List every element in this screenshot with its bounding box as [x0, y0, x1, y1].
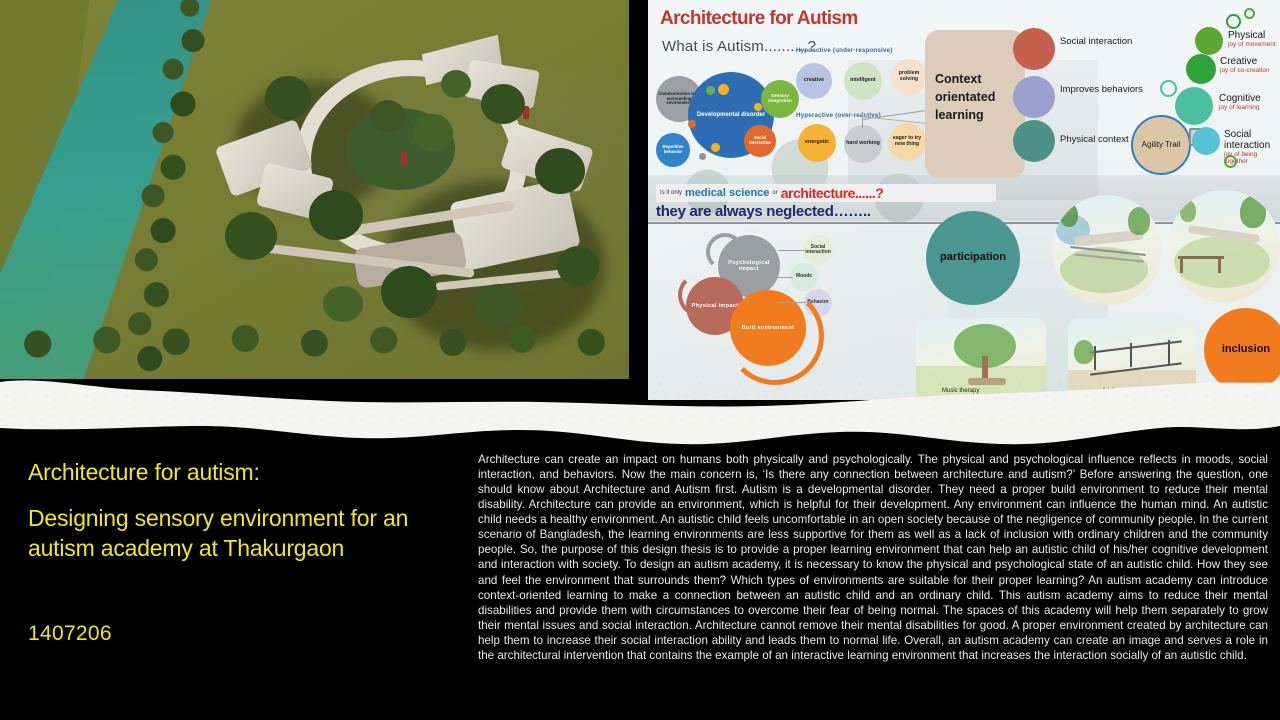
dot-orange [688, 120, 696, 128]
context-dot-physical-context [1013, 120, 1055, 162]
joy-dot-creative [1186, 54, 1216, 84]
joy-name-social-interaction: Social interaction [1224, 129, 1280, 151]
bubble-social-interaction-small-label: Social interaction [744, 136, 776, 145]
flow-outcome-moods-label: Moods [796, 274, 812, 280]
poster-board: Architecture for Autism What is Autism..… [648, 0, 1280, 400]
bubble-energetic: energetic [798, 124, 836, 162]
headline-line-1: Architecture for autism: [28, 458, 478, 487]
context-label-physical-context: Physical context [1060, 134, 1129, 145]
keyword-inclusion-label: inclusion [1220, 344, 1272, 356]
flow-line-1 [778, 250, 806, 251]
joy-dot-cognitive [1175, 87, 1213, 125]
abstract-paragraph: Architecture can create an impact on hum… [478, 452, 1268, 663]
ribbon-medical-vs-architecture: Is it only medical science or architectu… [656, 184, 996, 202]
bubble-energetic-label: energetic [803, 140, 831, 146]
dot-yellow-3 [754, 103, 762, 111]
ring-accent-1 [1226, 14, 1241, 29]
bubble-developmental-disorder-label: Developmental disorder [695, 112, 767, 118]
bubble-hard-working-label: hard working [844, 141, 882, 147]
joy-row-cognitive: Cognitive joy of learning [1219, 93, 1261, 111]
sketch-amphitheatre [1052, 195, 1162, 305]
bubble-eager-new-thing-label: eager to try new thing [888, 136, 926, 147]
dot-yellow-2 [711, 143, 720, 152]
context-dot-improves-behaviors [1013, 76, 1055, 118]
joy-sub-cognitive: joy of learning [1219, 104, 1261, 111]
joy-name-cognitive: Cognitive [1219, 93, 1261, 104]
bubble-creative-label: creative [802, 78, 826, 84]
joy-sub-creative: joy of co-creation [1220, 67, 1270, 74]
agility-trail-circle: Agility Trail [1131, 115, 1191, 175]
sketch-garden-bridge [1168, 190, 1280, 302]
context-box-title: Context orientated learning [935, 70, 1025, 124]
joy-row-physical: Physical joy of movement [1228, 30, 1276, 48]
flow-outcome-social-interaction-label: Social interaction [803, 245, 833, 256]
context-label-social-interaction: Social interaction [1060, 36, 1132, 47]
keyword-circle-participation: participation [926, 211, 1020, 305]
joy-name-physical: Physical [1228, 30, 1276, 41]
ring-accent-2 [1244, 8, 1255, 19]
flow-arc-red [678, 273, 722, 317]
flow-outcome-moods: Moods [790, 263, 818, 291]
ribbon-medical: medical science [685, 187, 769, 199]
bubble-repetitive-behavior-label: Repetitive behavior [656, 145, 690, 155]
ribbon-prefix: Is it only [660, 190, 682, 196]
torn-paper-divider [0, 368, 1280, 460]
ribbon-or: or [772, 190, 777, 196]
joy-dot-physical [1195, 27, 1223, 55]
bubble-eager-new-thing: eager to try new thing [888, 123, 926, 161]
flow-arc-grey [706, 233, 744, 271]
ribbon-architecture: architecture......? [781, 185, 884, 201]
joy-name-creative: Creative [1220, 56, 1270, 67]
ring-accent-4 [1224, 155, 1237, 168]
headline-line-2: Designing sensory environment for an aut… [28, 503, 478, 564]
bubble-repetitive-behavior: Repetitive behavior [656, 133, 690, 167]
bubble-sensory-integration: Sensory integration [761, 80, 799, 118]
presentation-slide: Architecture for Autism What is Autism..… [0, 0, 1280, 720]
context-label-improves-behaviors: Improves behaviors [1060, 84, 1143, 95]
joy-sub-physical: joy of movement [1228, 41, 1276, 48]
bubble-sensory-integration-label: Sensory integration [761, 94, 799, 104]
poster-question: What is Autism..........? [662, 38, 816, 55]
flow-outcome-social-interaction: Social interaction [803, 235, 833, 265]
agility-trail-label: Agility Trail [1140, 141, 1183, 150]
joy-row-creative: Creative joy of co-creation [1220, 56, 1270, 74]
poster-title: Architecture for Autism [660, 8, 858, 30]
dot-green [706, 86, 715, 95]
bubble-intelligent: intelligent [844, 62, 882, 100]
bottom-text-section: Architecture for autism: Designing senso… [0, 420, 1280, 720]
student-id-number: 1407206 [28, 622, 112, 646]
top-image-zone: Architecture for Autism What is Autism..… [0, 0, 1280, 420]
keyword-participation-label: participation [938, 252, 1008, 264]
bubble-social-interaction-small: Social interaction [744, 125, 776, 157]
label-hypoactive: Hypoactive (under-responsive) [796, 47, 893, 54]
bubble-problem-solving-label: problem solving [891, 71, 927, 82]
bubble-problem-solving: problem solving [891, 59, 927, 95]
context-orientated-learning-box: Context orientated learning [925, 30, 1025, 178]
ring-accent-3 [1160, 80, 1177, 97]
flow-line-2 [778, 277, 793, 278]
dot-grey [699, 153, 706, 160]
joy-dot-social-interaction [1192, 127, 1220, 155]
context-dot-social-interaction [1013, 28, 1055, 70]
bubble-creative: creative [796, 63, 832, 99]
neglected-statement: they are always neglected…….. [656, 203, 871, 220]
headline-block: Architecture for autism: Designing senso… [28, 458, 478, 563]
bubble-intelligent-label: intelligent [848, 78, 877, 84]
aerial-site-render [0, 0, 629, 379]
dot-yellow [718, 84, 729, 95]
bubble-hard-working: hard working [844, 125, 882, 163]
connector-line-3 [862, 112, 863, 128]
